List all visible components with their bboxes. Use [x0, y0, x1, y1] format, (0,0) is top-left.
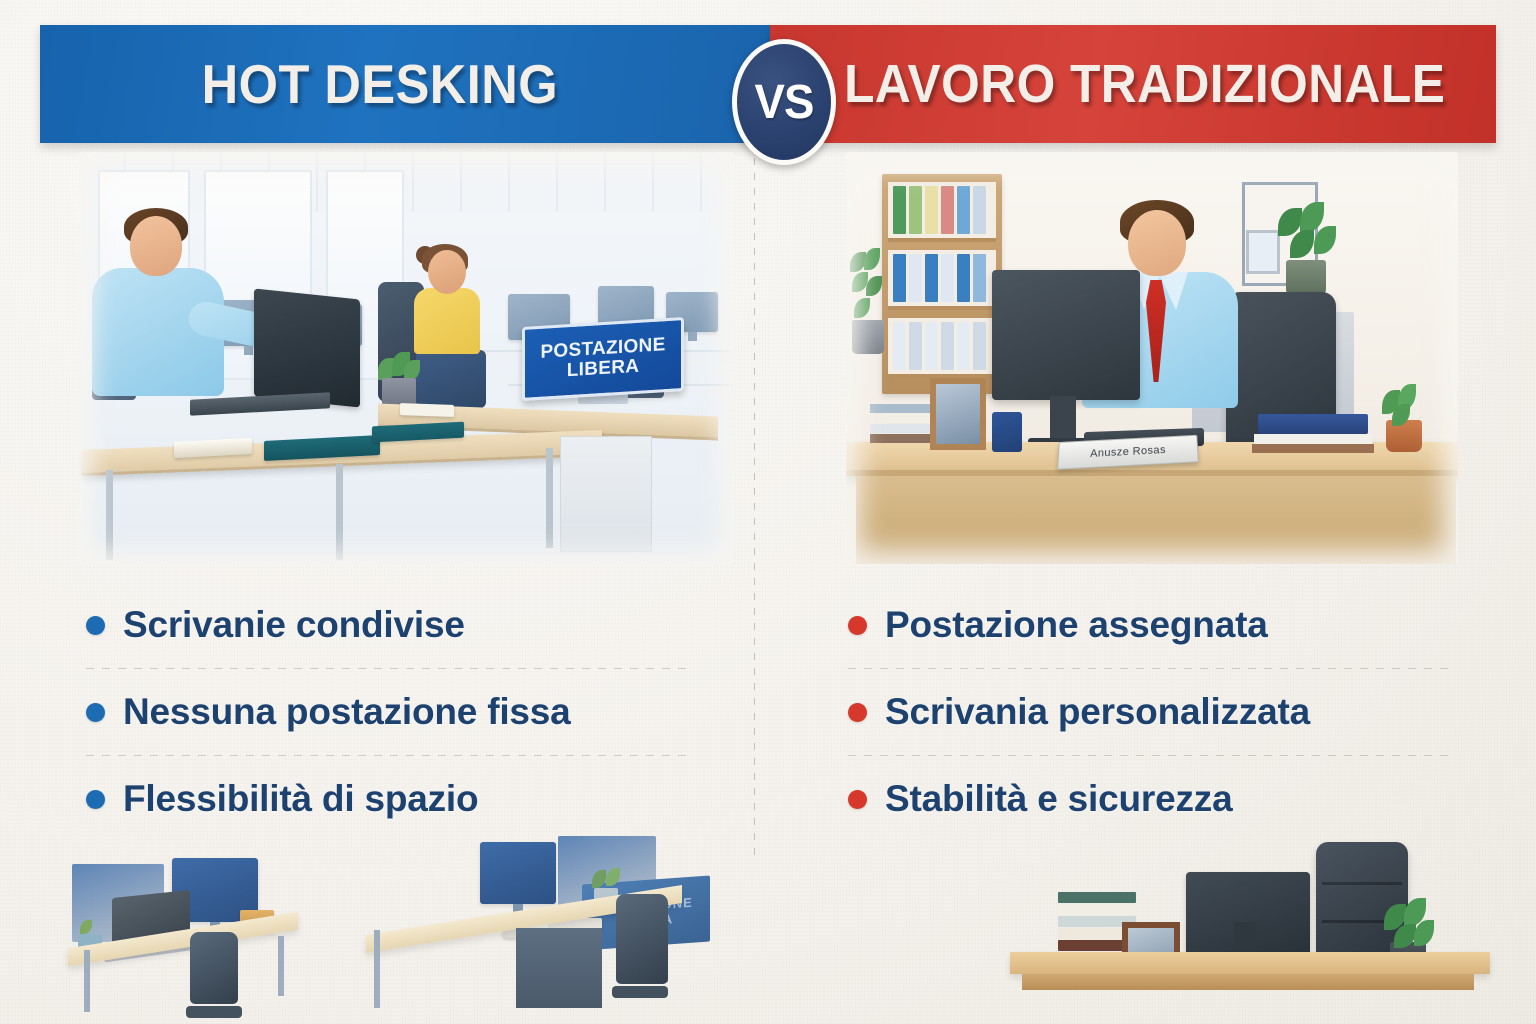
header-banner: HOT DESKING LAVORO TRADIZIONALE VS	[40, 25, 1496, 143]
bullet-list-traditional: Postazione assegnata Scrivania personali…	[848, 582, 1488, 842]
binder	[973, 254, 986, 302]
photo-traditional-office: Anusze Rosas	[846, 152, 1458, 564]
book	[870, 424, 932, 433]
desk-front-panel	[856, 476, 1456, 564]
shelf-row	[888, 318, 996, 378]
iso-desk-b: POSTAZIONE LIBERA	[362, 832, 762, 1022]
binder	[957, 322, 970, 370]
infographic-page: HOT DESKING LAVORO TRADIZIONALE VS	[0, 0, 1536, 1024]
wall-photo	[1246, 230, 1280, 274]
center-divider	[754, 158, 755, 858]
open-plan-office-scene: POSTAZIONE LIBERA	[78, 152, 734, 564]
private-office-scene: Anusze Rosas	[846, 152, 1458, 564]
desktop-monitor	[992, 270, 1140, 400]
chair-seam	[1322, 882, 1402, 885]
photo-hot-desking-office: POSTAZIONE LIBERA	[78, 152, 734, 564]
binder	[893, 322, 906, 370]
bullet-label: Flessibilità di spazio	[123, 778, 478, 820]
plant-leaf	[854, 298, 870, 318]
binder	[925, 322, 938, 370]
illustration-assigned-desk	[990, 826, 1530, 1022]
desk-surface	[1010, 952, 1490, 974]
plant-pot	[1286, 260, 1326, 296]
desk-edge	[1022, 974, 1474, 990]
bullet-dot-icon	[86, 703, 105, 722]
binder	[909, 186, 922, 234]
vs-badge: VS	[732, 39, 836, 165]
desk-leg	[278, 936, 284, 996]
illustration-shared-desks: POSTAZIONE LIBERA	[62, 832, 762, 1022]
bullet-separator	[86, 668, 694, 669]
binder	[893, 254, 906, 302]
bullet-label: Scrivanie condivise	[123, 604, 465, 646]
chair-seat	[186, 1006, 242, 1018]
shelf-row	[888, 250, 996, 310]
worker-head	[1128, 210, 1186, 276]
list-item: Postazione assegnata	[848, 582, 1488, 668]
bullet-list-hot-desking: Scrivanie condivise Nessuna postazione f…	[86, 582, 726, 842]
photo-image	[936, 384, 980, 444]
desk-leg	[546, 448, 553, 548]
desk-leg	[374, 930, 380, 1008]
monitor	[480, 842, 556, 904]
book	[1058, 904, 1136, 915]
notepad	[400, 403, 454, 417]
book-stack	[870, 404, 932, 450]
desk-photo-frame	[930, 378, 986, 450]
bullet-dot-icon	[848, 703, 867, 722]
list-item: Scrivania personalizzata	[848, 669, 1488, 755]
iso-desk-a	[62, 832, 362, 1022]
list-item: Flessibilità di spazio	[86, 756, 726, 842]
blue-binder	[1258, 414, 1368, 434]
book	[870, 404, 932, 413]
floor-plant	[848, 248, 888, 358]
postazione-libera-sign: POSTAZIONE LIBERA	[522, 317, 684, 401]
bullet-separator	[848, 755, 1456, 756]
colleague-legs	[416, 350, 486, 408]
binder	[909, 322, 922, 370]
laptop-screen	[254, 288, 360, 407]
desk-leg	[84, 950, 90, 1012]
vs-badge-label: VS	[755, 75, 814, 130]
header-right-panel: LAVORO TRADIZIONALE	[770, 25, 1496, 143]
book	[870, 414, 932, 423]
bullet-label: Scrivania personalizzata	[885, 691, 1310, 733]
list-item: Scrivanie condivise	[86, 582, 726, 668]
nameplate-text: Anusze Rosas	[1090, 444, 1166, 460]
book	[1058, 892, 1136, 903]
header-left-title: HOT DESKING	[202, 52, 608, 116]
desk-leg	[106, 470, 113, 560]
desk-pedestal	[516, 928, 602, 1008]
binder	[973, 322, 986, 370]
bullet-label: Stabilità e sicurezza	[885, 778, 1232, 820]
binder	[941, 322, 954, 370]
office-chair	[616, 894, 668, 984]
bullet-separator	[86, 755, 694, 756]
book	[870, 434, 932, 443]
chair-seat	[612, 986, 668, 998]
binder	[941, 186, 954, 234]
binder	[957, 254, 970, 302]
office-chair	[190, 932, 238, 1004]
binder	[957, 186, 970, 234]
bullet-label: Postazione assegnata	[885, 604, 1268, 646]
plant-pot	[852, 320, 884, 354]
binder	[973, 186, 986, 234]
header-left-panel: HOT DESKING	[40, 25, 770, 143]
binder	[893, 186, 906, 234]
desk-leg	[336, 464, 343, 560]
colleague-head	[428, 250, 466, 294]
coffee-mug	[992, 412, 1022, 452]
bullet-separator	[848, 668, 1456, 669]
plant-leaf	[866, 276, 882, 296]
binder	[909, 254, 922, 302]
binder	[925, 254, 938, 302]
desk-pedestal	[560, 436, 652, 552]
bullet-dot-icon	[86, 790, 105, 809]
bullet-dot-icon	[848, 616, 867, 635]
monitor-stand-neck	[1050, 396, 1076, 442]
colleague-torso	[414, 288, 480, 354]
book	[1254, 434, 1372, 444]
bullet-dot-icon	[86, 616, 105, 635]
sign-line-2: LIBERA	[567, 357, 640, 381]
bullet-dot-icon	[848, 790, 867, 809]
binder	[925, 186, 938, 234]
plant-leaf	[864, 248, 880, 270]
bullet-label: Nessuna postazione fissa	[123, 691, 571, 733]
book	[1252, 444, 1374, 453]
header-right-title: LAVORO TRADIZIONALE	[820, 53, 1445, 115]
list-item: Nessuna postazione fissa	[86, 669, 726, 755]
shelf-row	[888, 182, 996, 242]
worker-head	[130, 216, 182, 276]
binder	[941, 254, 954, 302]
bookshelf	[882, 174, 1002, 394]
